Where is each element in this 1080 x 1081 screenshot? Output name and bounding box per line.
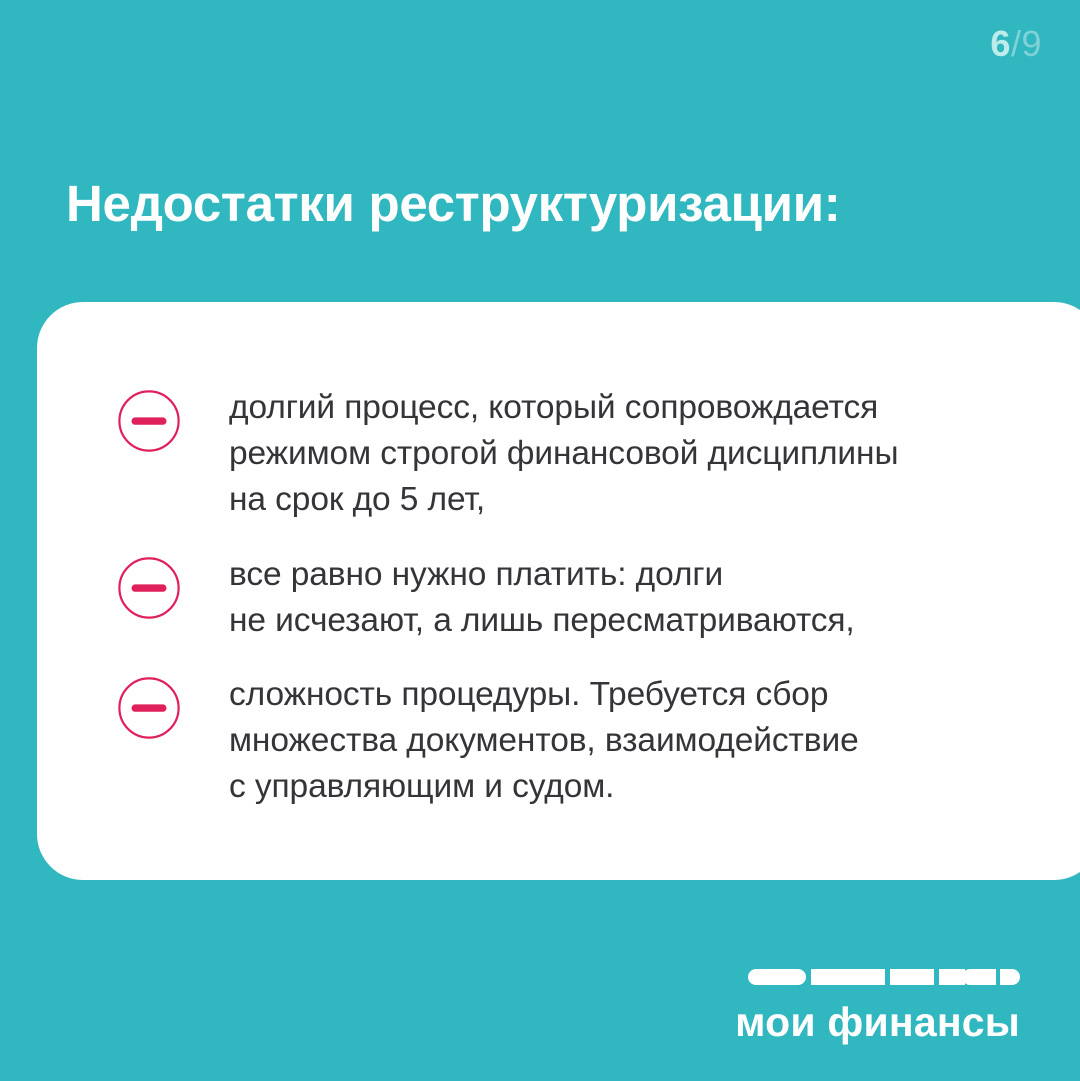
page-counter: 6/9 [990, 26, 1042, 62]
brand-logo: мои финансы [735, 969, 1020, 1043]
minus-circle-icon [118, 390, 180, 452]
minus-circle-icon [118, 677, 180, 739]
list-item-text: долгий процесс, который сопровождается р… [229, 385, 1018, 523]
slide-canvas: 6/9 Недостатки реструктуризации: долгий … [0, 0, 1080, 1081]
page-counter-separator: / [1011, 23, 1022, 64]
list-item: долгий процесс, который сопровождается р… [118, 385, 1018, 523]
page-counter-total: 9 [1021, 23, 1042, 64]
list-item: все равно нужно платить: долги не исчеза… [118, 552, 1018, 644]
list-item-text: все равно нужно платить: долги не исчеза… [229, 552, 1018, 644]
minus-circle-icon [118, 557, 180, 619]
bullet-list: долгий процесс, который сопровождается р… [118, 385, 1018, 810]
segmented-bar-icon [735, 969, 1020, 990]
content-card: долгий процесс, который сопровождается р… [37, 302, 1080, 880]
list-item: сложность процедуры. Требуется сбор множ… [118, 672, 1018, 810]
page-title: Недостатки реструктуризации: [66, 174, 1006, 234]
page-counter-current: 6 [990, 23, 1011, 64]
list-item-text: сложность процедуры. Требуется сбор множ… [229, 672, 1018, 810]
brand-logo-text: мои финансы [735, 1002, 1020, 1043]
